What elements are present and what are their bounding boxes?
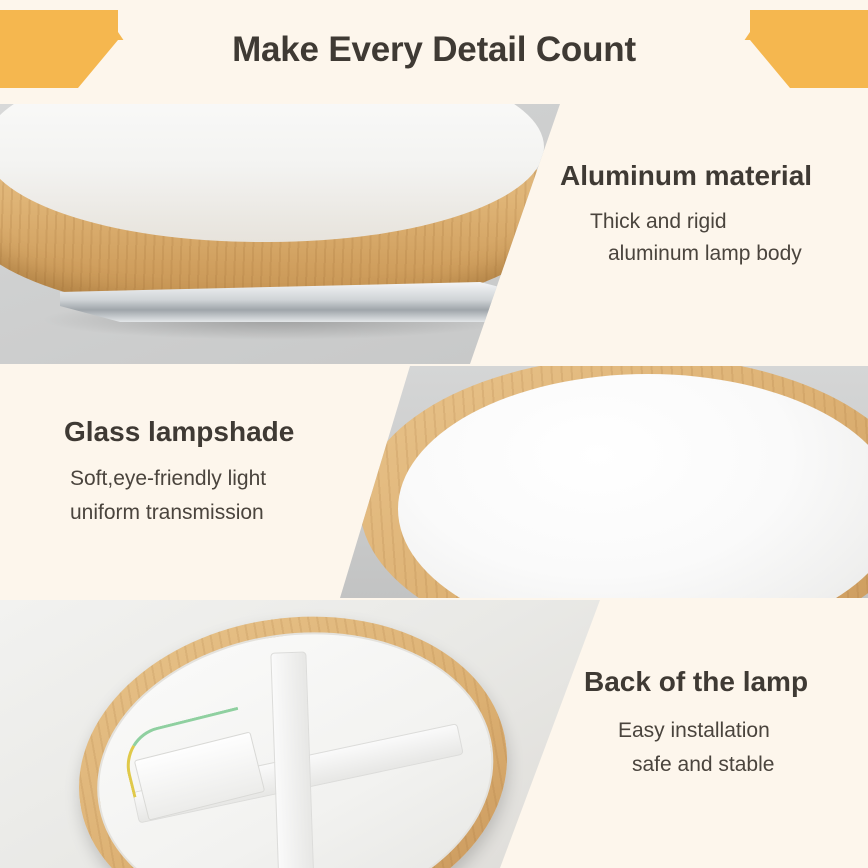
lamp-back-plate <box>79 607 512 868</box>
glass-lampshade-heading: Glass lampshade <box>64 416 364 448</box>
aluminum-material-body-line1: Thick and rigid <box>590 210 727 233</box>
section-aluminum-material: Aluminum material Thick and rigid alumin… <box>0 104 868 364</box>
header-banner: Make Every Detail Count <box>0 0 868 100</box>
glass-lampshade-text: Glass lampshade Soft,eye-friendly light … <box>0 366 340 598</box>
product-detail-infographic: Make Every Detail Count Aluminum materia… <box>0 0 868 868</box>
aluminum-material-photo <box>0 104 560 364</box>
back-of-the-lamp-text: Back of the lamp Easy installation safe … <box>576 600 868 868</box>
lamp-back-body <box>59 600 528 868</box>
back-of-the-lamp-heading: Back of the lamp <box>584 666 868 698</box>
back-of-the-lamp-body: Easy installation safe and stable <box>618 714 868 782</box>
back-of-the-lamp-body-line1: Easy installation <box>618 719 770 742</box>
glass-lampshade-body: Soft,eye-friendly light uniform transmis… <box>70 462 360 530</box>
section-glass-lampshade: Glass lampshade Soft,eye-friendly light … <box>0 366 868 598</box>
section-back-of-the-lamp: Back of the lamp Easy installation safe … <box>0 600 868 868</box>
aluminum-material-heading: Aluminum material <box>560 160 860 192</box>
glass-lampshade-photo <box>340 366 868 598</box>
aluminum-material-body-line2: aluminum lamp body <box>608 238 868 270</box>
aluminum-material-body: Thick and rigid aluminum lamp body <box>590 206 868 270</box>
glass-lampshade-body-line1: Soft,eye-friendly light <box>70 467 266 490</box>
back-of-the-lamp-body-line2: safe and stable <box>632 748 868 782</box>
back-of-the-lamp-photo <box>0 600 600 868</box>
glass-lampshade-body-line2: uniform transmission <box>70 501 264 524</box>
mounting-bracket-vertical <box>270 652 315 868</box>
aluminum-material-text: Aluminum material Thick and rigid alumin… <box>560 104 868 364</box>
page-title: Make Every Detail Count <box>0 30 868 70</box>
